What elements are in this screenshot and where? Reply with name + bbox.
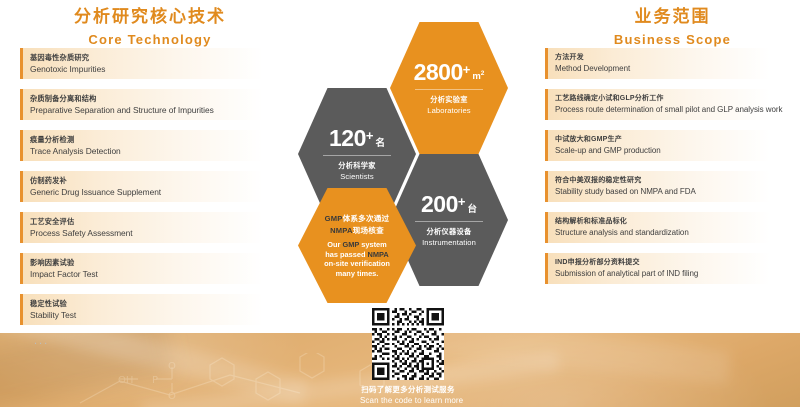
left-title-en: Core Technology [20,30,280,50]
item-label-cn: IND申报分析部分资料提交 [555,258,789,268]
svg-text:O: O [168,391,176,402]
hexagon-instrumentation[interactable]: 200+台 分析仪器设备 Instrumentation [390,154,508,286]
item-label-en: Stability Test [30,309,284,321]
instrumentation-caption-cn: 分析仪器设备 [427,227,472,237]
gmp-en-highlight: GMP [342,240,359,249]
gmp-text-en: Our GMP system has passed NMPA on-site v… [324,240,390,278]
laboratories-unit: m2 [472,71,484,82]
list-item[interactable]: 中试放大和GMP生产 Scale-up and GMP production [545,130,795,161]
instrumentation-caption-en: Instrumentation [422,237,476,248]
item-label-en: Process route determination of small pil… [555,104,789,116]
item-label-cn: 基因毒性杂质研究 [30,53,284,63]
scientists-number: 120 [329,127,366,150]
list-item[interactable]: 工艺安全评估 Process Safety Assessment [20,212,290,243]
qr-code-block: 扫码了解更多分析测试服务 Scan the code to learn more [360,308,456,406]
qr-caption-cn: 扫码了解更多分析测试服务 [360,385,456,395]
laboratories-caption-cn: 分析实验室 [430,95,467,105]
core-technology-list: 基因毒性杂质研究 Genotoxic Impurities 杂质制备分离和结构 … [20,48,290,347]
laboratories-value: 2800+m2 [414,61,485,84]
instrumentation-plus: + [458,195,466,208]
item-label-en: Genotoxic Impurities [30,63,284,75]
nmpa-en-highlight: NMPA [368,250,389,259]
statistics-hexagon-cluster: 2800+m2 分析实验室 Laboratories 120+名 分析科学家 S… [290,20,515,295]
nmpa-cn-highlight: NMPA [330,226,353,235]
laboratories-number: 2800 [414,61,463,84]
slide-root: OH P O O 分析研究核心技术 Core Technology 业务范围 B… [0,0,800,407]
item-label-en: Trace Analysis Detection [30,145,284,157]
item-label-cn: 方法开发 [555,53,789,63]
divider [323,155,391,156]
svg-text:P: P [152,375,158,386]
scientists-caption-en: Scientists [340,171,374,182]
scientists-caption-cn: 分析科学家 [338,161,375,171]
list-item[interactable]: 工艺路线确定小试和GLP分析工作 Process route determina… [545,89,795,120]
item-label-en: Structure analysis and standardization [555,227,789,239]
instrumentation-value: 200+台 [421,193,477,216]
item-label-cn: 工艺安全评估 [30,217,284,227]
scientists-value: 120+名 [329,127,385,150]
scientists-plus: + [366,129,374,142]
qr-code-icon[interactable] [372,308,444,380]
item-label-cn: 痕量分析检测 [30,135,284,145]
item-label-cn: 稳定性试验 [30,299,284,309]
right-title-cn: 业务范围 [545,6,800,28]
item-label-cn: 结构解析和标准品标化 [555,217,789,227]
item-label-cn: 杂质制备分离和结构 [30,94,284,104]
laboratories-plus: + [463,63,471,76]
list-item[interactable]: 影响因素试验 Impact Factor Test [20,253,290,284]
item-label-en: Preparative Separation and Structure of … [30,104,284,116]
left-title-cn: 分析研究核心技术 [20,6,280,28]
list-item[interactable]: 稳定性试验 Stability Test [20,294,290,325]
gmp-text-cn: GMP体系多次通过 NMPA现场核查 [325,213,390,237]
item-label-en: Submission of analytical part of IND fil… [555,268,789,280]
svg-text:OH: OH [118,375,133,386]
item-label-en: Scale-up and GMP production [555,145,789,157]
instrumentation-unit: 台 [467,205,477,215]
qr-caption-en: Scan the code to learn more [360,395,456,406]
scientists-unit: 名 [375,139,385,149]
left-column-heading: 分析研究核心技术 Core Technology [20,6,280,50]
hexagon-laboratories[interactable]: 2800+m2 分析实验室 Laboratories [390,22,508,154]
item-label-cn: 中试放大和GMP生产 [555,135,789,145]
svg-text:O: O [168,361,176,372]
list-item[interactable]: IND申报分析部分资料提交 Submission of analytical p… [545,253,795,284]
right-column-heading: 业务范围 Business Scope [545,6,800,50]
business-scope-list: 方法开发 Method Development 工艺路线确定小试和GLP分析工作… [545,48,795,294]
item-label-cn: 工艺路线确定小试和GLP分析工作 [555,94,789,104]
item-label-en: Process Safety Assessment [30,227,284,239]
list-item[interactable]: 方法开发 Method Development [545,48,795,79]
divider [415,221,483,222]
more-items-ellipsis: ... [34,335,290,347]
item-label-cn: 仿制药发补 [30,176,284,186]
instrumentation-number: 200 [421,193,458,216]
item-label-en: Method Development [555,63,789,75]
item-label-cn: 符合中美双报的稳定性研究 [555,176,789,186]
list-item[interactable]: 杂质制备分离和结构 Preparative Separation and Str… [20,89,290,120]
item-label-en: Impact Factor Test [30,268,284,280]
list-item[interactable]: 痕量分析检测 Trace Analysis Detection [20,130,290,161]
item-label-en: Stability study based on NMPA and FDA [555,186,789,198]
gmp-cn-highlight: GMP [325,214,343,223]
list-item[interactable]: 仿制药发补 Generic Drug Issuance Supplement [20,171,290,202]
list-item[interactable]: 基因毒性杂质研究 Genotoxic Impurities [20,48,290,79]
list-item[interactable]: 符合中美双报的稳定性研究 Stability study based on NM… [545,171,795,202]
laboratories-caption-en: Laboratories [427,105,470,116]
right-title-en: Business Scope [545,30,800,50]
divider [415,89,483,90]
list-item[interactable]: 结构解析和标准品标化 Structure analysis and standa… [545,212,795,243]
item-label-en: Generic Drug Issuance Supplement [30,186,284,198]
item-label-cn: 影响因素试验 [30,258,284,268]
